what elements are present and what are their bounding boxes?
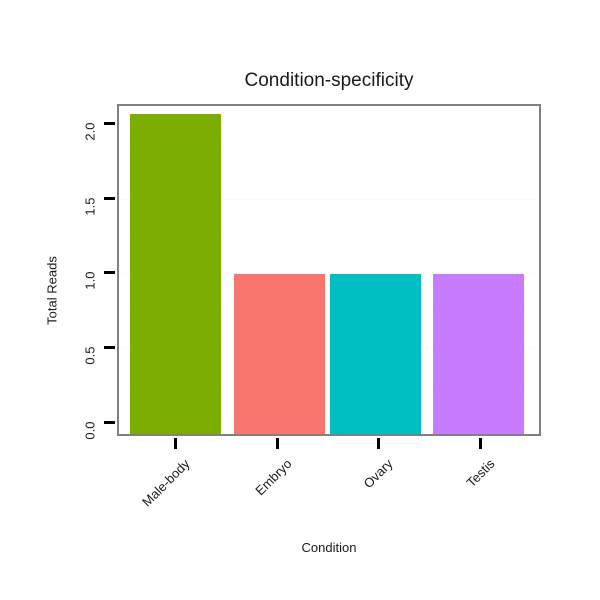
plot-area — [119, 106, 539, 434]
chart-screenshot: Condition-specificity Total Reads 0.0 0.… — [0, 0, 600, 600]
y-tick-mark-4 — [104, 122, 115, 125]
y-tick-mark-1 — [104, 346, 115, 349]
bar-testis[interactable] — [433, 274, 524, 434]
y-tick-mark-3 — [104, 197, 115, 200]
y-axis-title: Total Reads — [45, 231, 60, 351]
plot-panel — [117, 104, 541, 436]
x-tick-mark-0 — [174, 438, 177, 449]
y-tick-label-3: 1.5 — [83, 198, 98, 258]
x-tick-mark-2 — [377, 438, 380, 449]
bar-male-body[interactable] — [130, 114, 221, 434]
y-tick-label-4: 2.0 — [83, 123, 98, 183]
x-tick-mark-3 — [479, 438, 482, 449]
chart-title: Condition-specificity — [29, 70, 600, 92]
y-tick-label-2: 1.0 — [83, 272, 98, 332]
y-tick-label-1: 0.5 — [83, 347, 98, 407]
y-tick-mark-2 — [104, 271, 115, 274]
y-tick-label-0: 0.0 — [83, 422, 98, 482]
y-tick-mark-0 — [104, 421, 115, 424]
x-axis-title: Condition — [29, 540, 600, 555]
bar-ovary[interactable] — [330, 274, 421, 434]
x-tick-mark-1 — [276, 438, 279, 449]
bar-embryo[interactable] — [234, 274, 325, 434]
